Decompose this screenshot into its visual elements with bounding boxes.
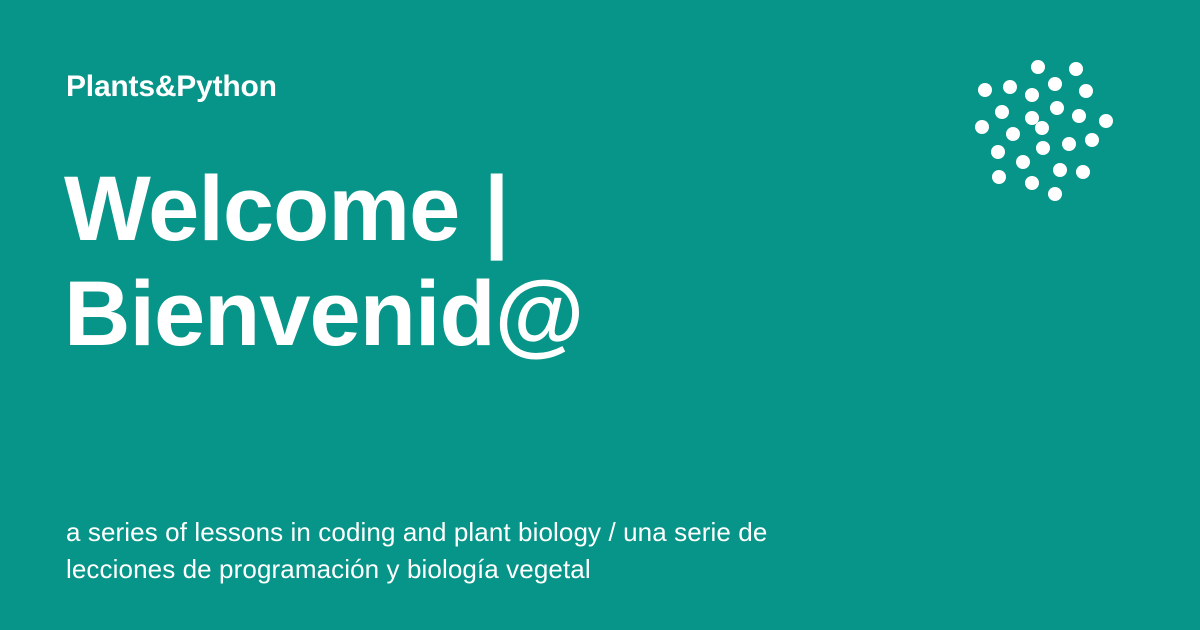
dot <box>1031 60 1045 74</box>
dot <box>1006 127 1020 141</box>
dot <box>995 105 1009 119</box>
banner-card: Plants&Python Welcome | Bienvenid@ a ser… <box>0 0 1200 630</box>
dot <box>1048 187 1062 201</box>
dot <box>1069 62 1083 76</box>
dot <box>1053 163 1067 177</box>
brand-title: Plants&Python <box>66 70 277 103</box>
dot <box>1085 133 1099 147</box>
page-title: Welcome | Bienvenid@ <box>64 157 964 367</box>
dot <box>992 170 1006 184</box>
dot <box>1025 111 1039 125</box>
page-title-line-1: Welcome | <box>64 157 964 262</box>
dot <box>975 120 989 134</box>
dot-group <box>975 60 1113 201</box>
dot <box>1025 176 1039 190</box>
scattered-dots-cluster-icon <box>968 48 1128 208</box>
dot <box>1025 88 1039 102</box>
dot <box>991 145 1005 159</box>
dot <box>1048 77 1062 91</box>
dot <box>1062 137 1076 151</box>
dot <box>1036 141 1050 155</box>
dot <box>1079 84 1093 98</box>
dot <box>1003 80 1017 94</box>
dot <box>978 83 992 97</box>
dot <box>1099 114 1113 128</box>
dot <box>1016 155 1030 169</box>
dot <box>1076 165 1090 179</box>
page-subtitle: a series of lessons in coding and plant … <box>66 514 856 588</box>
scattered-dots-svg <box>968 48 1128 208</box>
dot <box>1035 121 1049 135</box>
dot <box>1050 101 1064 115</box>
page-title-line-2: Bienvenid@ <box>64 262 964 367</box>
dot <box>1072 109 1086 123</box>
